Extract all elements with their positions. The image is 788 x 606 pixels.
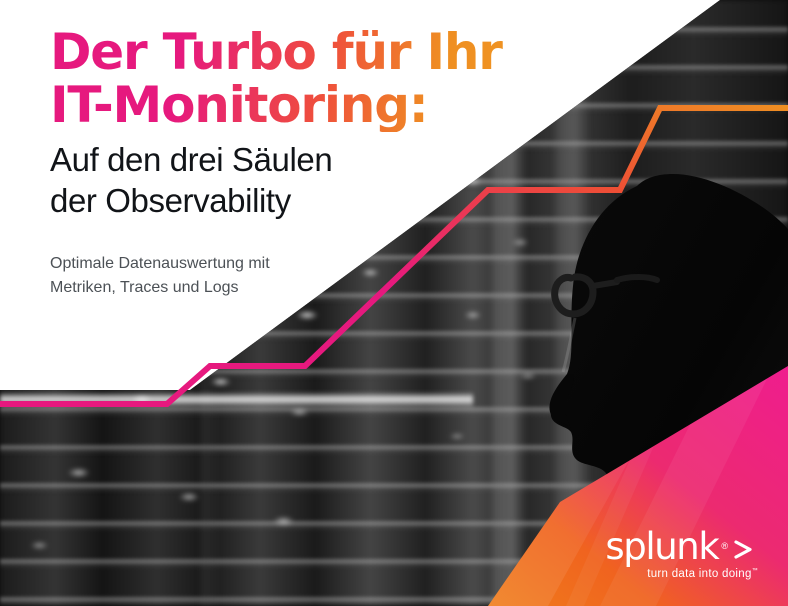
registered-mark: ® <box>721 542 728 551</box>
rack-highlight-band <box>0 392 473 408</box>
ebook-cover: Der Turbo für Ihr IT-Monitoring: Auf den… <box>0 0 788 606</box>
chevron-right-icon <box>728 534 758 564</box>
page-subtitle: Auf den drei Säulen der Observability <box>50 140 520 222</box>
page-title: Der Turbo für Ihr IT-Monitoring: <box>50 26 520 132</box>
logo-tagline: turn data into doing™ <box>605 568 758 580</box>
page-kicker: Optimale Datenauswertung mit Metriken, T… <box>50 252 520 301</box>
logo-tagline-text: turn data into doing <box>647 568 751 580</box>
splunk-logo: splunk ® turn data into doing™ <box>605 528 758 580</box>
logo-wordmark: splunk ® <box>605 528 758 565</box>
logo-tagline-mark: ™ <box>752 568 758 574</box>
cover-text-block: Der Turbo für Ihr IT-Monitoring: Auf den… <box>50 26 520 300</box>
logo-text: splunk <box>605 528 718 565</box>
